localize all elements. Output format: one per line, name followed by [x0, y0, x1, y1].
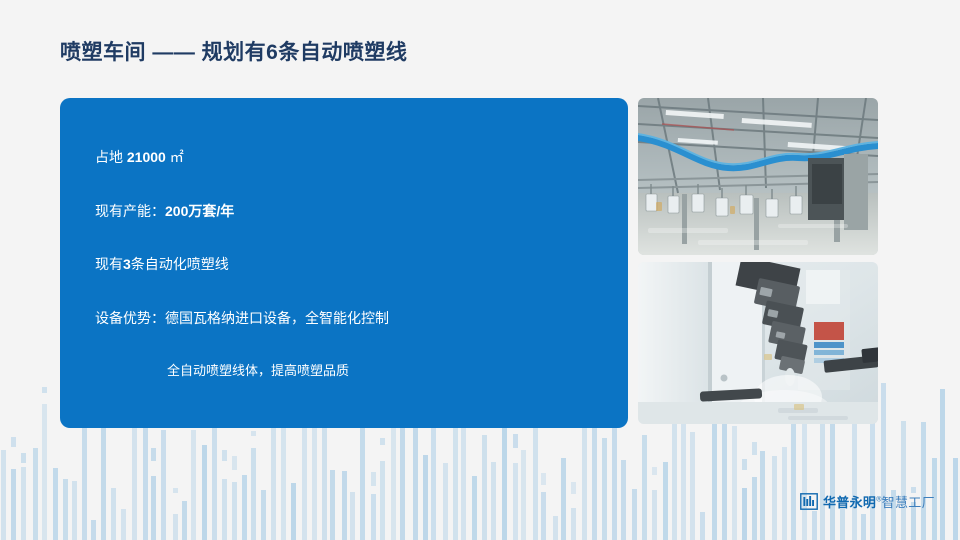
info-line-existing-suffix: 条自动化喷塑线 [131, 256, 229, 272]
decorative-bar [191, 430, 196, 540]
info-line-existing-value: 3 [123, 256, 131, 272]
decorative-bar [632, 489, 637, 540]
decorative-bar [251, 431, 256, 436]
decorative-bar [173, 514, 178, 540]
decorative-bar [521, 450, 526, 540]
decorative-bar [533, 416, 538, 540]
decorative-bar [53, 468, 58, 540]
logo-sub-brand: 智慧工厂 [882, 495, 935, 510]
decorative-bar [861, 514, 866, 540]
decorative-bar [182, 501, 187, 540]
decorative-bar [541, 473, 546, 485]
decorative-bar [391, 426, 396, 540]
decorative-bar [143, 417, 148, 540]
decorative-bar [760, 451, 765, 540]
decorative-bar [222, 479, 227, 540]
decorative-bar [121, 509, 126, 540]
decorative-bar [752, 442, 757, 455]
decorative-bar [652, 467, 657, 475]
decorative-bar [502, 424, 507, 540]
footer-logo: 华普永明®智慧工厂 [800, 492, 935, 511]
decorative-bar [571, 482, 576, 494]
decorative-bar [621, 460, 626, 540]
decorative-bar [513, 434, 518, 448]
page-title: 喷塑车间 —— 规划有6条自动喷塑线 [60, 36, 407, 66]
info-line-area-value: 21000 [127, 149, 166, 165]
decorative-bar [222, 450, 227, 461]
decorative-bar [330, 470, 335, 540]
decorative-bar [161, 430, 166, 540]
decorative-bar [21, 467, 26, 540]
decorative-bar [602, 438, 607, 540]
photo-spray-workshop-overview [638, 98, 878, 255]
decorative-bar [72, 481, 77, 540]
info-line-area-suffix: ㎡ [166, 149, 184, 165]
decorative-bar [612, 419, 617, 540]
decorative-bar [472, 476, 477, 540]
decorative-bar [772, 456, 777, 540]
decorative-bar [732, 426, 737, 540]
info-line-existing-lines: 现有3条自动化喷塑线 [95, 255, 604, 275]
decorative-bar [830, 424, 835, 540]
decorative-bar [1, 450, 6, 540]
decorative-bar [652, 490, 657, 540]
decorative-bar [63, 479, 68, 540]
info-line-quality: 全自动喷塑线体，提高喷塑品质 [95, 362, 604, 380]
decorative-bar [742, 459, 747, 470]
decorative-bar [151, 448, 156, 461]
decorative-bar [782, 447, 787, 540]
info-line-capacity: 现有产能：200万套/年 [95, 202, 604, 222]
decorative-bar [151, 476, 156, 540]
decorative-bar [901, 421, 906, 540]
decorative-bar [291, 483, 296, 540]
decorative-bar [820, 405, 825, 540]
decorative-bar [921, 422, 926, 540]
info-line-area: 占地 21000 ㎡ [95, 148, 604, 168]
decorative-bar [322, 411, 327, 540]
decorative-bar [132, 426, 137, 540]
decorative-bar [663, 462, 668, 540]
decorative-bar [11, 437, 16, 447]
decorative-bar [812, 511, 817, 540]
decorative-bar [443, 463, 448, 540]
decorative-bar [571, 508, 576, 540]
decorative-bar [312, 412, 317, 540]
decorative-bar [881, 383, 886, 540]
info-line-capacity-value: 200万套/年 [165, 203, 234, 219]
decorative-bar [513, 463, 518, 540]
decorative-bar [553, 516, 558, 540]
decorative-bar [232, 456, 237, 470]
workshop-photo-illustration [638, 98, 878, 255]
decorative-bar [251, 448, 256, 540]
decorative-bar [101, 421, 106, 540]
info-line-capacity-prefix: 现有产能： [95, 203, 165, 219]
decorative-bar [712, 422, 717, 540]
decorative-bar [742, 488, 747, 540]
decorative-bar [482, 435, 487, 540]
photo-spray-booth-interior [638, 262, 878, 424]
decorative-bar [173, 488, 178, 493]
decorative-bar [722, 424, 727, 540]
decorative-bar [541, 492, 546, 540]
decorative-bar [371, 494, 376, 540]
decorative-bar [271, 421, 276, 540]
decorative-bar [91, 520, 96, 540]
decorative-bar [752, 477, 757, 540]
info-line-area-prefix: 占地 [95, 149, 127, 165]
decorative-bar [642, 435, 647, 540]
decorative-bar [350, 492, 355, 540]
decorative-bar [342, 471, 347, 540]
decorative-bar [953, 458, 958, 540]
decorative-bar [33, 448, 38, 540]
decorative-bar [380, 438, 385, 445]
decorative-bar [491, 462, 496, 540]
decorative-bar [232, 482, 237, 540]
decorative-bar [261, 490, 266, 540]
decorative-bar [212, 421, 217, 540]
logo-brand: 华普永明 [823, 495, 876, 510]
decorative-bar [380, 461, 385, 540]
decorative-bar [840, 507, 845, 540]
decorative-bar [42, 387, 47, 393]
decorative-bar [242, 475, 247, 540]
booth-photo-illustration [638, 262, 878, 424]
decorative-bar [690, 432, 695, 540]
factory-mark-icon [800, 493, 818, 510]
decorative-bar [940, 389, 945, 540]
decorative-bar [42, 404, 47, 540]
slide-canvas: 喷塑车间 —— 规划有6条自动喷塑线 占地 21000 ㎡ 现有产能：200万套… [0, 0, 960, 540]
decorative-bar [371, 472, 376, 486]
decorative-bar [561, 458, 566, 540]
info-panel: 占地 21000 ㎡ 现有产能：200万套/年 现有3条自动化喷塑线 设备优势：… [60, 98, 628, 428]
decorative-bar [21, 453, 26, 463]
info-line-equipment-advantage: 设备优势：德国瓦格纳进口设备，全智能化控制 [95, 309, 604, 329]
decorative-bar [111, 488, 116, 540]
decorative-bar [700, 512, 705, 540]
decorative-bar [681, 419, 686, 540]
info-line-existing-prefix: 现有 [95, 256, 123, 272]
decorative-bar [202, 445, 207, 540]
info-panel-lines: 占地 21000 ㎡ 现有产能：200万套/年 现有3条自动化喷塑线 设备优势：… [95, 148, 604, 381]
decorative-bar [11, 469, 16, 540]
logo-text: 华普永明®智慧工厂 [823, 492, 935, 511]
decorative-bar [423, 455, 428, 540]
